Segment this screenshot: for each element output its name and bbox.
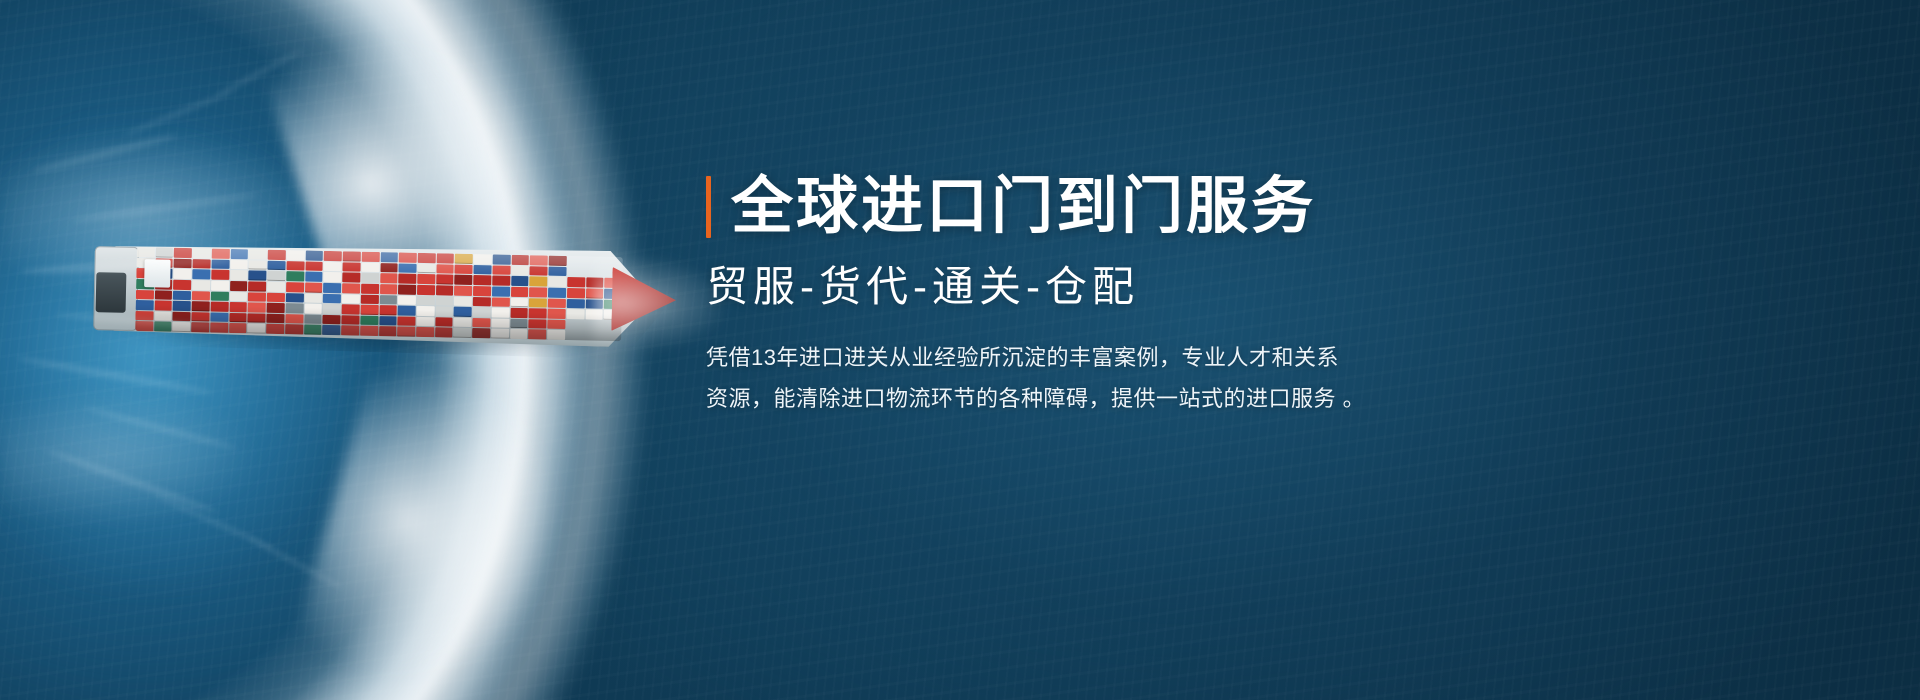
shipping-container (173, 301, 191, 311)
shipping-container (342, 294, 360, 304)
shipping-container (491, 329, 509, 339)
shipping-container (435, 328, 453, 338)
shipping-container (211, 291, 229, 301)
shipping-container (324, 272, 342, 282)
shipping-container (174, 248, 192, 258)
shipping-container (230, 270, 248, 280)
shipping-container (286, 293, 304, 303)
shipping-container (212, 249, 230, 259)
shipping-container (211, 302, 229, 312)
shipping-container (398, 316, 416, 326)
shipping-container (379, 326, 397, 336)
shipping-container (380, 263, 398, 273)
wake-turbulent-wash (0, 120, 470, 590)
shipping-container (322, 325, 340, 335)
shipping-container (323, 315, 341, 325)
shipping-container (511, 276, 529, 286)
shipping-container (472, 318, 490, 328)
shipping-container (566, 320, 584, 330)
shipping-container (454, 296, 472, 306)
shipping-container (435, 296, 453, 306)
shipping-container (530, 255, 548, 265)
shipping-container (268, 250, 286, 260)
shipping-container (379, 295, 397, 305)
shipping-container (492, 297, 510, 307)
shipping-container (474, 254, 492, 264)
shipping-container (229, 302, 247, 312)
shipping-container (304, 325, 322, 335)
shipping-container (229, 323, 247, 333)
shipping-container (305, 272, 323, 282)
shipping-container (567, 256, 585, 266)
shipping-container (230, 260, 248, 270)
shipping-container (548, 309, 566, 319)
shipping-container (473, 275, 491, 285)
shipping-container (510, 319, 528, 329)
shipping-container (566, 309, 584, 319)
shipping-container (192, 280, 210, 290)
shipping-container (454, 286, 472, 296)
shipping-container (418, 253, 436, 263)
shipping-container (548, 287, 566, 297)
shipping-container (436, 253, 454, 263)
shipping-container (174, 269, 192, 279)
shipping-container (192, 291, 210, 301)
ship-stern-block (96, 272, 127, 313)
shipping-container (286, 271, 304, 281)
shipping-container (567, 298, 585, 308)
shipping-container (510, 329, 528, 339)
shipping-container (248, 324, 266, 334)
shipping-container (530, 266, 548, 276)
shipping-container (474, 265, 492, 275)
shipping-container (379, 305, 397, 315)
shipping-container (417, 263, 435, 273)
shipping-container (267, 303, 285, 313)
shipping-container (360, 315, 378, 325)
shipping-container (324, 262, 342, 272)
shipping-container (248, 292, 266, 302)
shipping-container (435, 317, 453, 327)
shipping-container (267, 292, 285, 302)
shipping-container (305, 282, 323, 292)
banner-description-line-2: 资源，能清除进口物流环节的各种障碍，提供一站式的进口服务 。 (706, 379, 1436, 420)
container-ship (97, 240, 655, 348)
shipping-container (454, 307, 472, 317)
shipping-container (397, 327, 415, 337)
shipping-container (547, 330, 565, 340)
banner-description: 凭借13年进口进关从业经验所沉淀的丰富案例，专业人才和关系 资源，能清除进口物流… (706, 338, 1436, 419)
shipping-container (136, 300, 154, 310)
shipping-container (567, 288, 585, 298)
shipping-container (229, 291, 247, 301)
shipping-container (436, 264, 454, 274)
shipping-container (548, 298, 566, 308)
shipping-container (249, 271, 267, 281)
shipping-container (304, 314, 322, 324)
shipping-container (492, 265, 510, 275)
shipping-container (248, 281, 266, 291)
shipping-container (323, 293, 341, 303)
shipping-container (398, 284, 416, 294)
shipping-container (491, 318, 509, 328)
shipping-container (399, 252, 417, 262)
shipping-container (417, 285, 435, 295)
shipping-container (360, 326, 378, 336)
shipping-container (379, 316, 397, 326)
shipping-container (304, 304, 322, 314)
hero-banner: 全球进口门到门服务 贸服-货代-通关-仓配 凭借13年进口进关从业经验所沉淀的丰… (0, 0, 1920, 700)
shipping-container (417, 306, 435, 316)
shipping-container (472, 328, 490, 338)
shipping-container (511, 265, 529, 275)
shipping-container (566, 330, 584, 340)
shipping-container (342, 283, 360, 293)
shipping-container (305, 261, 323, 271)
shipping-container (230, 281, 248, 291)
shipping-container (380, 252, 398, 262)
shipping-container (548, 277, 566, 287)
shipping-container (510, 297, 528, 307)
shipping-container (342, 262, 360, 272)
shipping-container (248, 302, 266, 312)
shipping-container (174, 280, 192, 290)
shipping-container (341, 326, 359, 336)
shipping-container (436, 285, 454, 295)
shipping-container (567, 277, 585, 287)
shipping-container (455, 264, 473, 274)
shipping-container (398, 295, 416, 305)
shipping-container (529, 298, 547, 308)
shipping-container (510, 308, 528, 318)
shipping-container (454, 317, 472, 327)
shipping-container (528, 330, 546, 340)
shipping-container (380, 284, 398, 294)
shipping-container (210, 312, 228, 322)
shipping-container (155, 247, 173, 257)
shipping-container (342, 304, 360, 314)
shipping-container (493, 254, 511, 264)
shipping-container (530, 276, 548, 286)
shipping-container (155, 290, 173, 300)
shipping-container (454, 328, 472, 338)
shipping-container (492, 276, 510, 286)
shipping-container (267, 282, 285, 292)
banner-headline: 全球进口门到门服务 (731, 176, 1316, 238)
shipping-container (211, 280, 229, 290)
shipping-container (455, 254, 473, 264)
shipping-container (511, 287, 529, 297)
shipping-container (399, 263, 417, 273)
shipping-container (229, 313, 247, 323)
shipping-container (547, 319, 565, 329)
shipping-container (193, 248, 211, 258)
shipping-container (416, 327, 434, 337)
shipping-container (473, 307, 491, 317)
shipping-container (324, 251, 342, 261)
shipping-container (549, 256, 567, 266)
shipping-container (249, 260, 267, 270)
shipping-container (286, 261, 304, 271)
shipping-container (305, 251, 323, 261)
shipping-container (529, 287, 547, 297)
shipping-container (360, 305, 378, 315)
shipping-container (380, 273, 398, 283)
shipping-container (416, 317, 434, 327)
shipping-container (287, 250, 305, 260)
shipping-container (511, 255, 529, 265)
shipping-container (361, 262, 379, 272)
shipping-container (342, 273, 360, 283)
shipping-container (341, 315, 359, 325)
shipping-container (266, 313, 284, 323)
shipping-container (529, 319, 547, 329)
shipping-container (323, 304, 341, 314)
shipping-container (285, 324, 303, 334)
shipping-container (417, 295, 435, 305)
shipping-container (398, 274, 416, 284)
shipping-container (548, 266, 566, 276)
shipping-container (267, 271, 285, 281)
shipping-container (286, 282, 304, 292)
shipping-container (137, 247, 155, 257)
shipping-container (529, 308, 547, 318)
shipping-container (173, 290, 191, 300)
shipping-container (435, 306, 453, 316)
orange-accent-bar (706, 176, 711, 238)
shipping-container (230, 249, 248, 259)
banner-description-line-1: 凭借13年进口进关从业经验所沉淀的丰富案例，专业人才和关系 (706, 338, 1436, 379)
shipping-container (491, 308, 509, 318)
headline-row: 全球进口门到门服务 (706, 176, 1466, 238)
shipping-container (285, 314, 303, 324)
shipping-container (361, 252, 379, 262)
shipping-container (455, 275, 473, 285)
shipping-container (343, 251, 361, 261)
banner-text-block: 全球进口门到门服务 贸服-货代-通关-仓配 凭借13年进口进关从业经验所沉淀的丰… (706, 176, 1466, 419)
shipping-container (154, 300, 172, 310)
shipping-container (473, 286, 491, 296)
shipping-container (136, 289, 154, 299)
banner-subheadline: 贸服-货代-通关-仓配 (706, 266, 1466, 308)
shipping-container (361, 284, 379, 294)
shipping-container (268, 260, 286, 270)
shipping-container (192, 301, 210, 311)
shipping-container (436, 275, 454, 285)
shipping-container (248, 313, 266, 323)
shipping-container (323, 283, 341, 293)
shipping-container (361, 294, 379, 304)
shipping-container (417, 274, 435, 284)
shipping-container (567, 267, 585, 277)
shipping-container (361, 273, 379, 283)
shipping-container (304, 293, 322, 303)
shipping-container (492, 286, 510, 296)
shipping-container (398, 306, 416, 316)
shipping-container (249, 249, 267, 259)
shipping-container (192, 269, 210, 279)
shipping-container (192, 312, 210, 322)
shipping-container (266, 324, 284, 334)
shipping-container (211, 270, 229, 280)
shipping-container (285, 303, 303, 313)
shipping-container (473, 297, 491, 307)
